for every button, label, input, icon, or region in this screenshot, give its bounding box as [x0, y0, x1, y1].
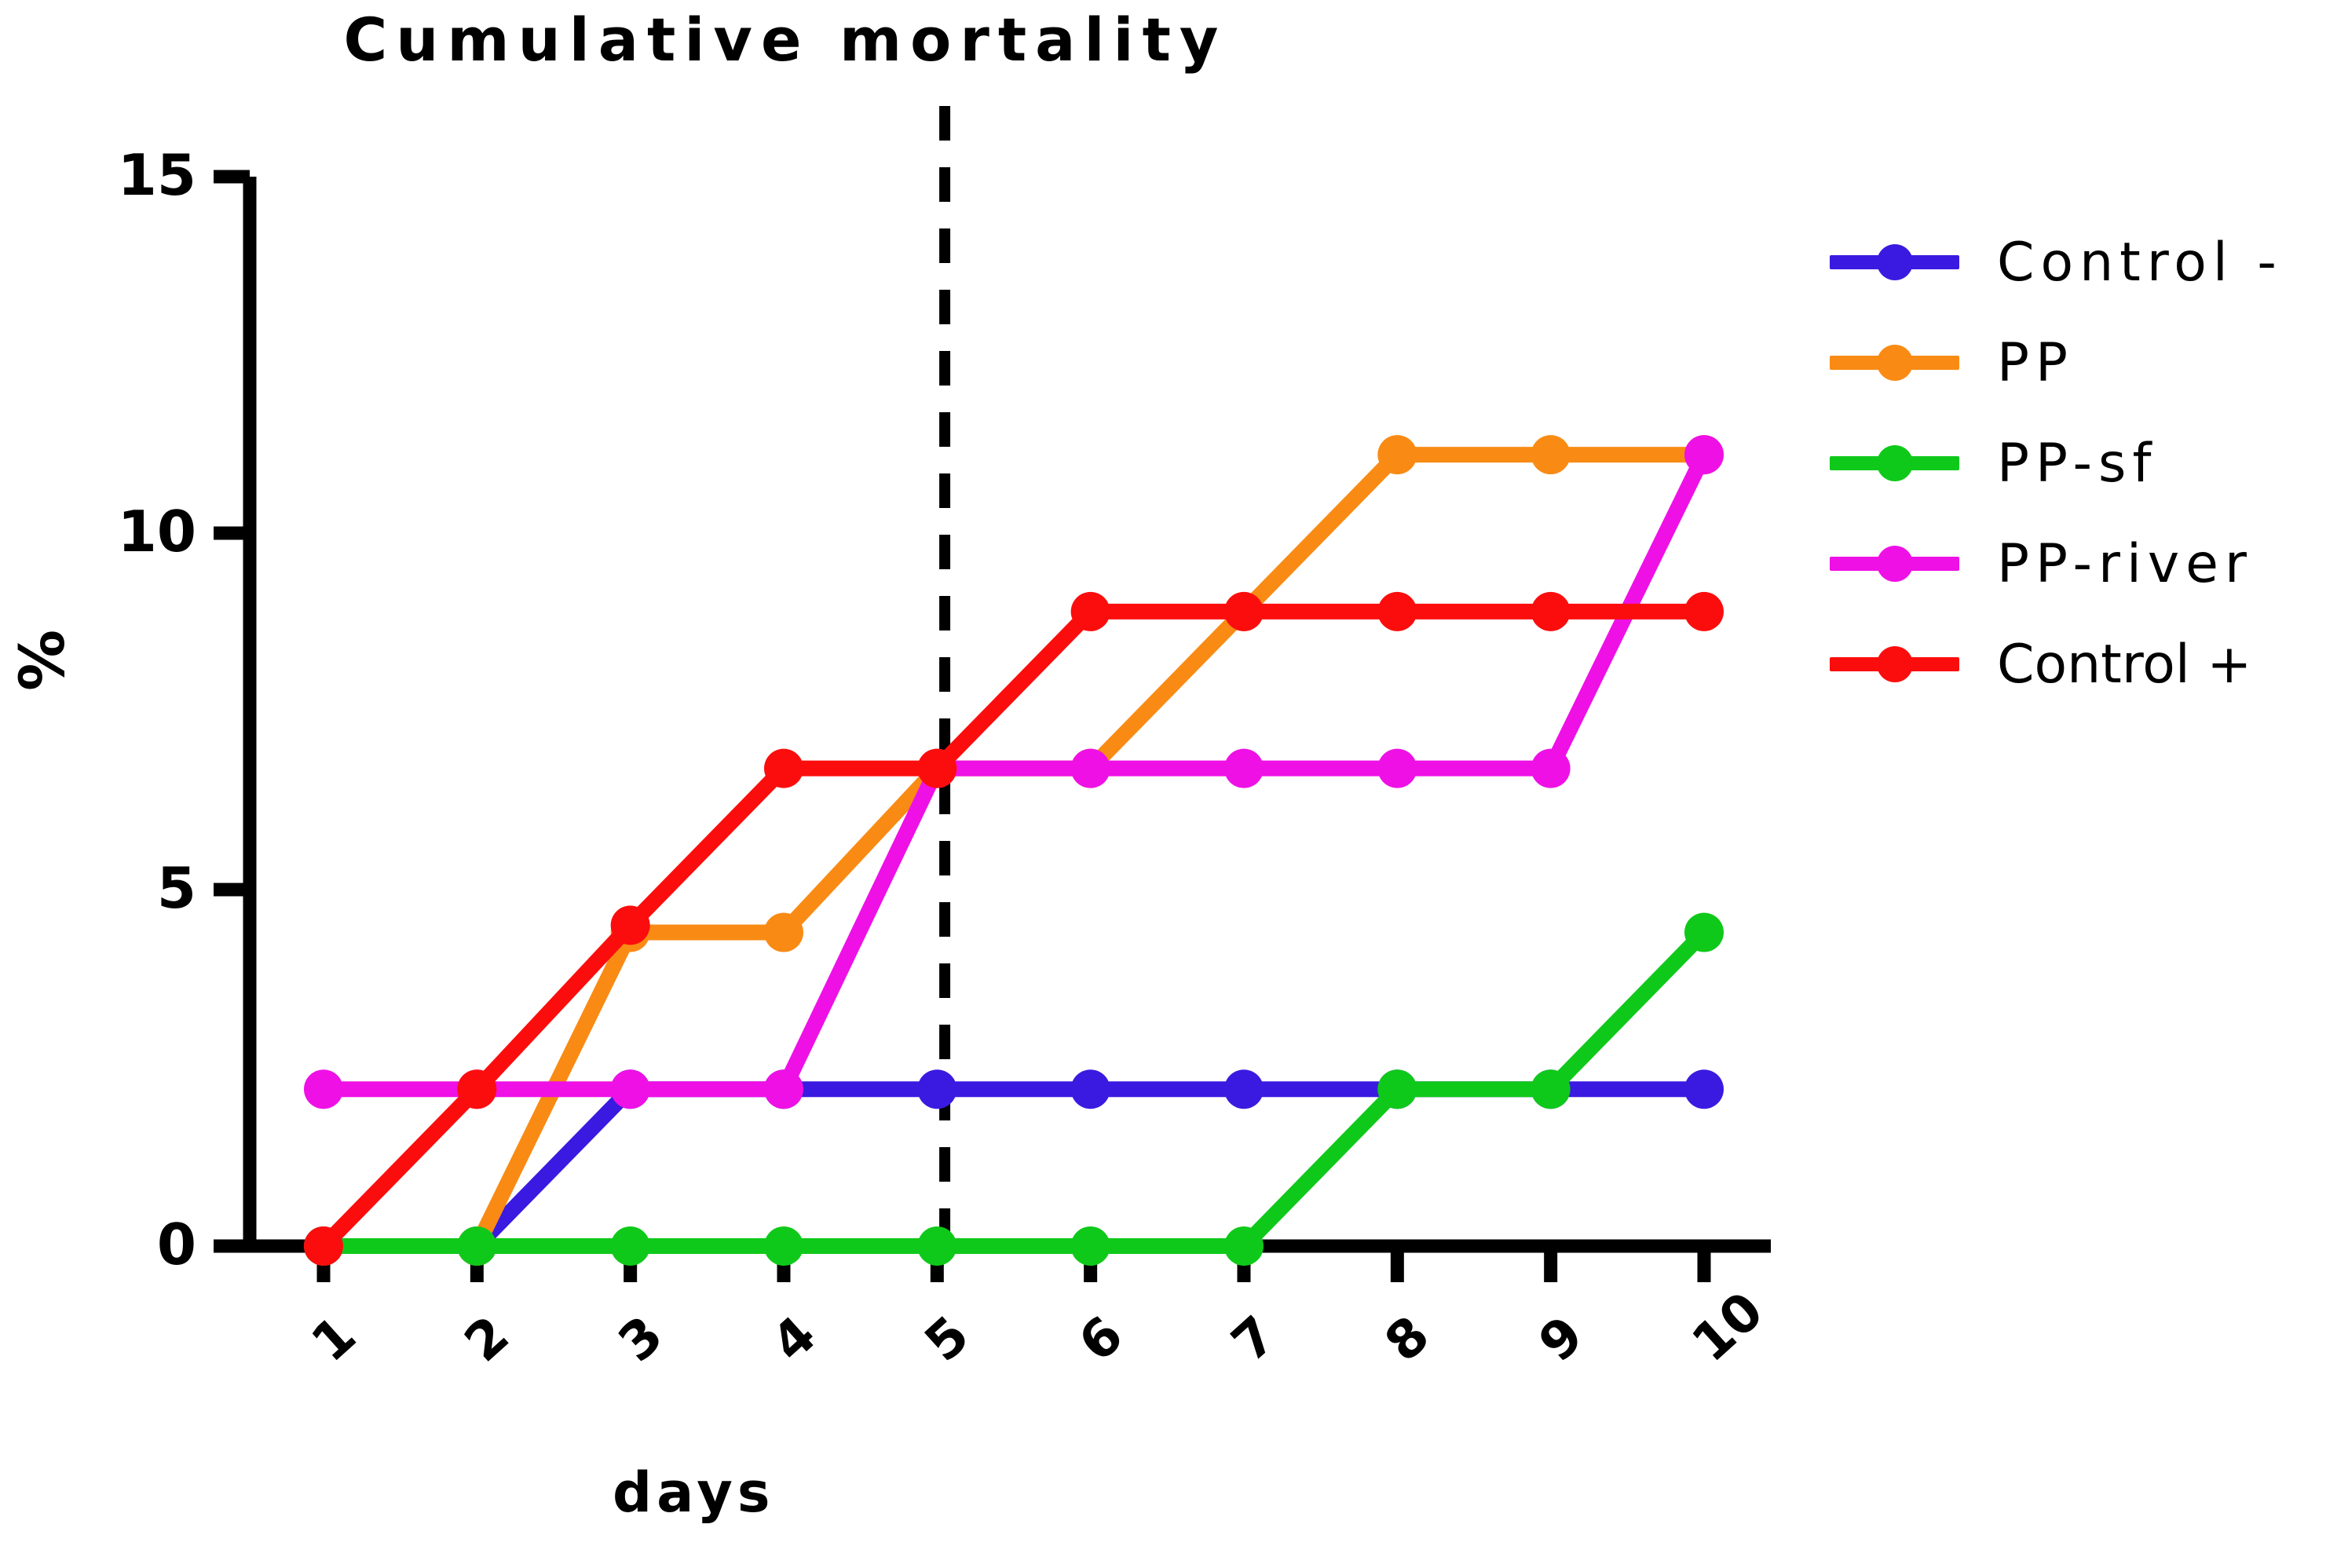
data-point [1684, 912, 1724, 952]
data-point [917, 1226, 956, 1266]
legend: Control -PPPP-sfPP-riverControl + [1830, 212, 2283, 715]
y-tick-label: 15 [63, 147, 196, 203]
data-series-group [304, 435, 1724, 1266]
data-point [1684, 1069, 1724, 1109]
data-point [764, 912, 803, 952]
legend-dot-icon [1877, 646, 1913, 682]
y-tick-label: 0 [63, 1216, 196, 1273]
data-point [1224, 592, 1264, 631]
data-point [611, 1069, 650, 1109]
data-point [1377, 592, 1417, 631]
data-point [304, 1226, 343, 1266]
data-point [1377, 435, 1417, 474]
legend-dot-icon [1877, 546, 1913, 582]
data-point [457, 1069, 496, 1109]
legend-dot-icon [1877, 445, 1913, 481]
legend-item-control[interactable]: Control - [1830, 212, 2283, 313]
data-point [1071, 1069, 1110, 1109]
data-point [1377, 1069, 1417, 1109]
data-point [764, 1069, 803, 1109]
x-axis-title: days [613, 1460, 775, 1525]
data-point [1377, 749, 1417, 788]
data-point [1531, 592, 1571, 631]
legend-item-label: PP-sf [1997, 433, 2157, 495]
data-point [1531, 435, 1571, 474]
data-point [1071, 1226, 1110, 1266]
data-point [1531, 1069, 1571, 1109]
data-point [764, 1226, 803, 1266]
chart-figure: Cumulative mortality 051015 12345678910 … [0, 0, 2348, 1568]
data-point [917, 749, 956, 788]
data-point [764, 749, 803, 788]
legend-item-control[interactable]: Control + [1830, 614, 2283, 715]
data-point [457, 1226, 496, 1266]
legend-item-label: PP [1997, 332, 2074, 394]
y-axis-title: % [8, 630, 79, 691]
legend-item-pp-sf[interactable]: PP-sf [1830, 413, 2283, 514]
data-point [1224, 1069, 1264, 1109]
legend-item-label: Control + [1997, 634, 2251, 696]
data-point [1071, 749, 1110, 788]
data-point [917, 1069, 956, 1109]
legend-marker-icon [1830, 212, 1959, 313]
legend-marker-icon [1830, 614, 1959, 715]
legend-item-label: PP-river [1997, 533, 2253, 595]
data-point [611, 905, 650, 945]
legend-item-pp-river[interactable]: PP-river [1830, 514, 2283, 614]
y-tick-label: 5 [63, 860, 196, 916]
series-pp-river [304, 435, 1724, 1109]
data-point [611, 1226, 650, 1266]
data-point [1684, 592, 1724, 631]
data-point [1071, 592, 1110, 631]
data-point [304, 1069, 343, 1109]
data-point [1224, 749, 1264, 788]
legend-dot-icon [1877, 244, 1913, 280]
data-point [1684, 435, 1724, 474]
legend-item-pp[interactable]: PP [1830, 313, 2283, 413]
legend-item-label: Control - [1997, 232, 2283, 294]
y-tick-label: 10 [63, 503, 196, 560]
legend-marker-icon [1830, 313, 1959, 413]
legend-dot-icon [1877, 345, 1913, 381]
legend-marker-icon [1830, 514, 1959, 614]
data-point [1224, 1226, 1264, 1266]
series-pp [457, 435, 1724, 1266]
legend-marker-icon [1830, 413, 1959, 514]
data-point [1531, 749, 1571, 788]
